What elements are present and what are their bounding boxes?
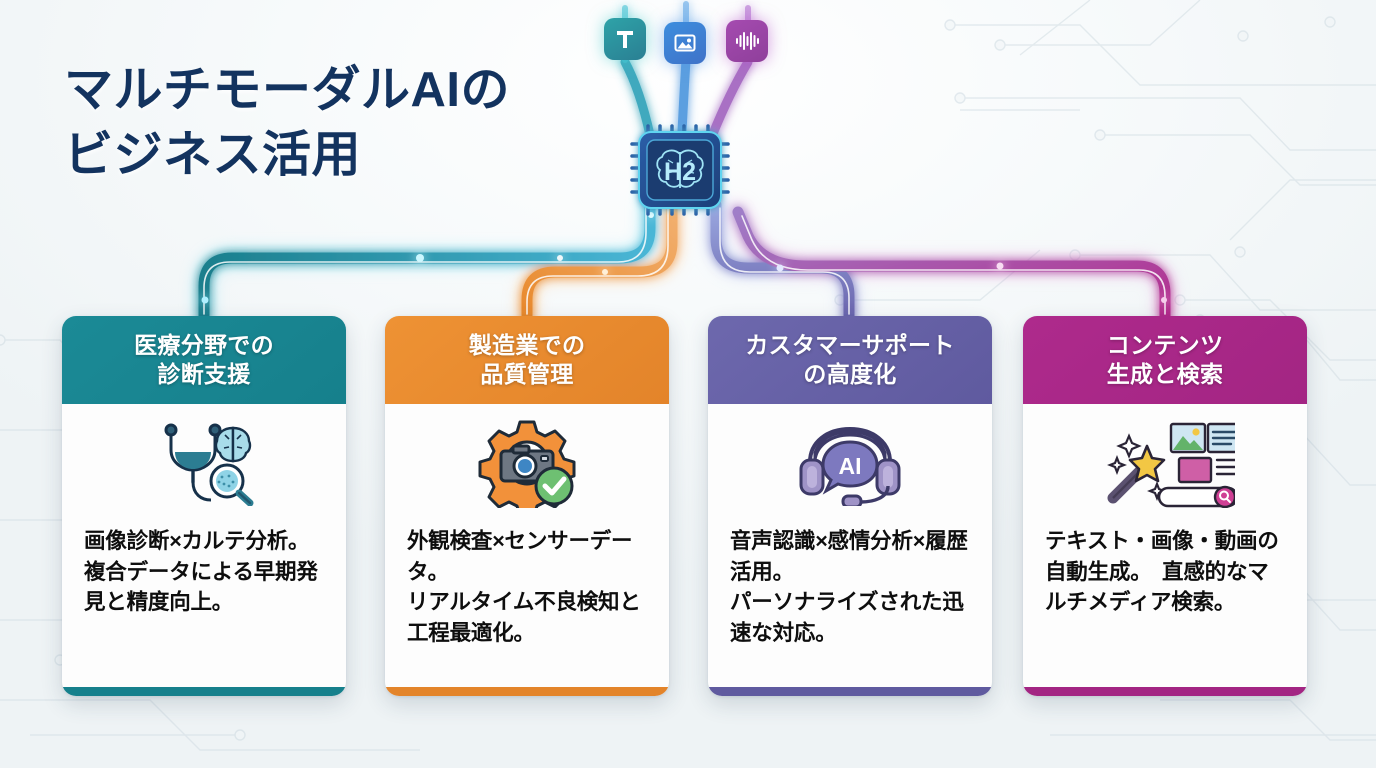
card-content[interactable]: コンテンツ 生成と検索 xyxy=(1023,316,1307,696)
card-manufacturing-footer xyxy=(385,687,669,696)
card-customer-support-body: 音声認識×感情分析×履歴活用。 パーソナライズされた迅速な対応。 xyxy=(708,522,992,687)
card-content-footer xyxy=(1023,687,1307,696)
media-block-glyph xyxy=(1179,458,1211,482)
image-picture-icon xyxy=(673,31,697,55)
card-customer-support-icon-wrap: AI xyxy=(708,404,992,522)
page-title: マルチモーダルAIの ビジネス活用 xyxy=(64,58,510,188)
card-manufacturing[interactable]: 製造業での 品質管理 xyxy=(385,316,669,696)
card-medical-title: 医療分野での 診断支援 xyxy=(62,316,346,404)
card-customer-support-footer xyxy=(708,687,992,696)
card-manufacturing-body: 外観検査×センサーデータ。 リアルタイム不良検知と工程最適化。 xyxy=(385,522,669,687)
brain-glyph xyxy=(216,428,250,461)
text-modality-badge[interactable] xyxy=(604,18,646,60)
headset-ai-icon: AI xyxy=(793,420,907,506)
card-medical[interactable]: 医療分野での 診断支援 xyxy=(62,316,346,696)
magic-wand-glyph xyxy=(1110,436,1164,498)
card-medical-icon-wrap xyxy=(62,404,346,522)
card-content-title: コンテンツ 生成と検索 xyxy=(1023,316,1307,404)
ai-chip-hub[interactable]: H2 xyxy=(626,118,734,222)
image-modality-badge[interactable] xyxy=(664,22,706,64)
text-t-icon xyxy=(613,27,637,51)
card-content-body: テキスト・画像・動画の自動生成。 直感的なマルチメディア検索。 xyxy=(1023,522,1307,687)
magnifier-glyph xyxy=(211,465,250,503)
search-bar-glyph xyxy=(1159,487,1235,507)
text-lines-glyph xyxy=(1217,460,1235,474)
card-content-icon-wrap xyxy=(1023,404,1307,522)
magic-wand-media-search-icon xyxy=(1095,418,1235,508)
svg-text:AI: AI xyxy=(839,453,862,479)
text-card-glyph xyxy=(1208,424,1235,452)
card-medical-body: 画像診断×カルテ分析。複合データによる早期発見と精度向上。 xyxy=(62,522,346,687)
card-manufacturing-icon-wrap xyxy=(385,404,669,522)
card-manufacturing-title: 製造業での 品質管理 xyxy=(385,316,669,404)
gear-camera-check-icon xyxy=(475,418,579,508)
infographic-canvas: マルチモーダルAIの ビジネス活用 xyxy=(0,0,1376,768)
stethoscope-brain-magnifier-icon xyxy=(145,420,263,506)
check-badge-glyph xyxy=(536,468,572,504)
audio-waveform-icon xyxy=(734,29,760,53)
card-customer-support-title: カスタマーサポート の高度化 xyxy=(708,316,992,404)
card-customer-support[interactable]: カスタマーサポート の高度化 AI 音声認識×感情 xyxy=(708,316,992,696)
audio-modality-badge[interactable] xyxy=(726,20,768,62)
card-medical-footer xyxy=(62,687,346,696)
ai-speech-bubble-glyph: AI xyxy=(823,442,877,491)
chip-label: H2 xyxy=(664,158,696,186)
image-thumb-glyph xyxy=(1171,424,1205,452)
